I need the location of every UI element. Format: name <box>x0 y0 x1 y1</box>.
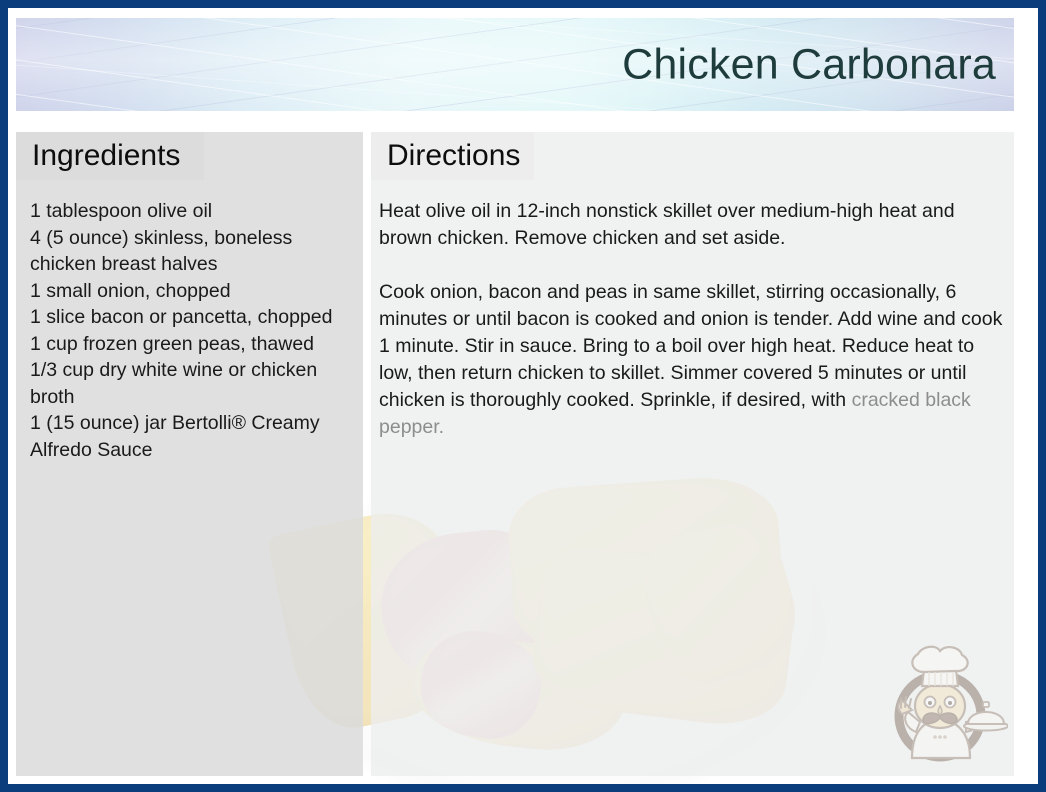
header-banner: Chicken Carbonara <box>16 18 1014 111</box>
list-item: 1 cup frozen green peas, thawed <box>30 331 355 358</box>
list-item: 4 (5 ounce) skinless, boneless chicken b… <box>30 225 355 278</box>
ingredients-header-tab: Ingredients <box>16 132 204 180</box>
directions-paragraph-1: Heat olive oil in 12-inch nonstick skill… <box>379 198 1007 252</box>
recipe-card: Chicken Carbonara Ingredients Directions… <box>0 0 1046 792</box>
directions-paragraph-2: Cook onion, bacon and peas in same skill… <box>379 279 1007 441</box>
ingredients-list: 1 tablespoon olive oil 4 (5 ounce) skinl… <box>16 198 363 463</box>
list-item: 1 (15 ounce) jar Bertolli® Creamy Alfred… <box>30 410 355 463</box>
directions-header-tab: Directions <box>371 132 534 180</box>
page-title: Chicken Carbonara <box>622 43 996 86</box>
directions-text: Heat olive oil in 12-inch nonstick skill… <box>371 198 1019 441</box>
list-item: 1/3 cup dry white wine or chicken broth <box>30 357 355 410</box>
ingredients-heading: Ingredients <box>32 141 180 171</box>
list-item: 1 small onion, chopped <box>30 278 355 305</box>
chef-mascot-logo <box>882 640 1008 766</box>
list-item: 1 tablespoon olive oil <box>30 198 355 225</box>
directions-heading: Directions <box>387 141 520 171</box>
list-item: 1 slice bacon or pancetta, chopped <box>30 304 355 331</box>
